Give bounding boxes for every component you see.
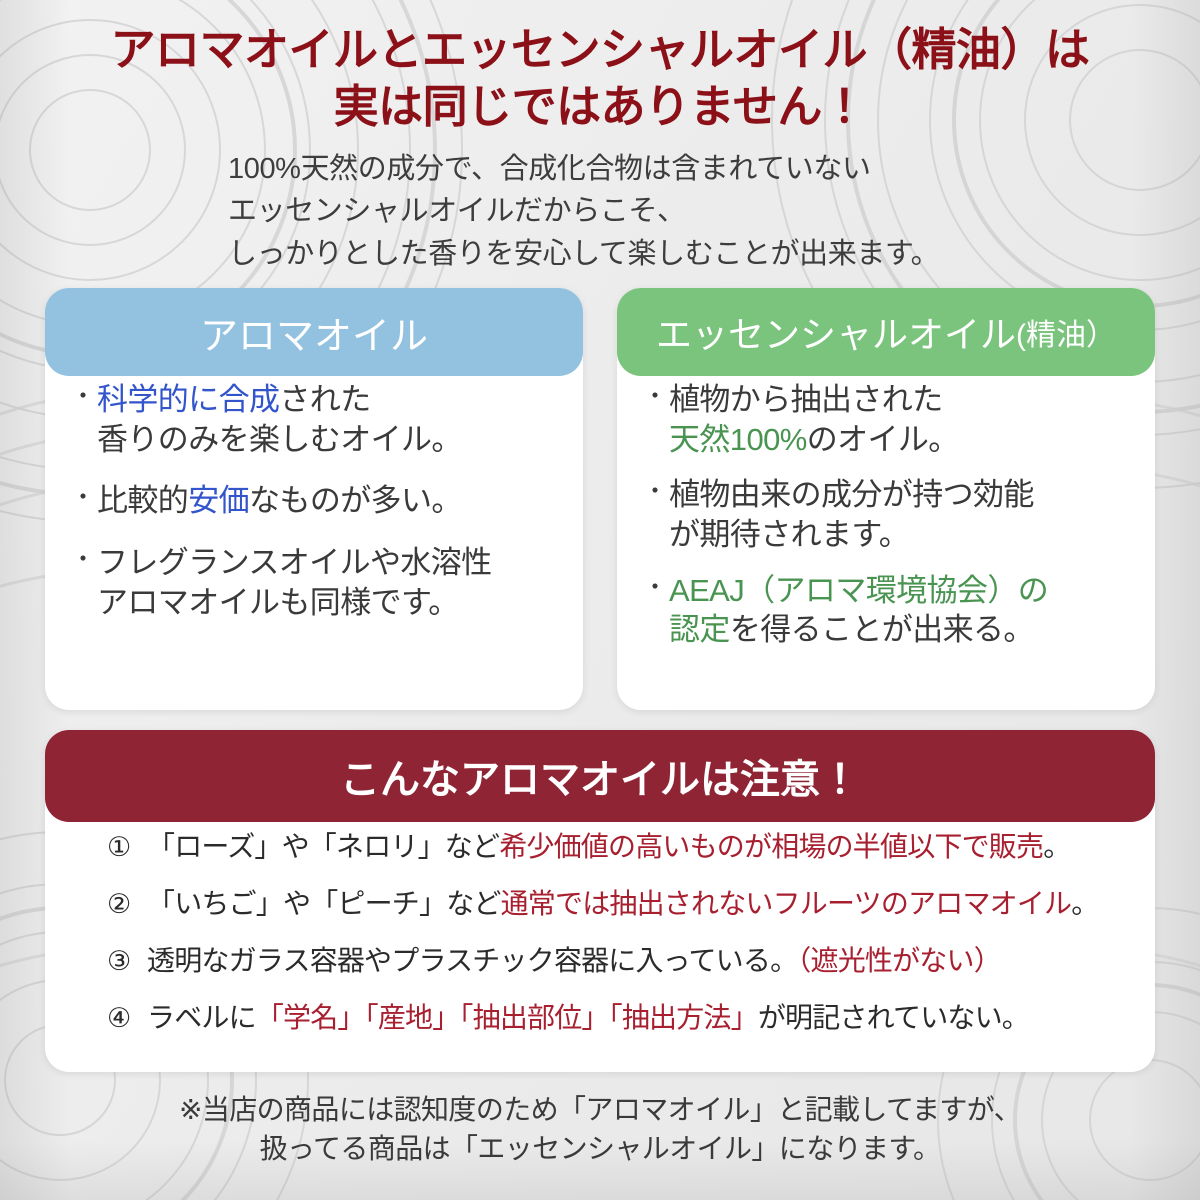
list-item-head: 「いちご」や「ピーチ」など xyxy=(147,888,501,919)
highlight-text: 天然100% xyxy=(669,422,807,457)
list-item-number: ② xyxy=(107,889,147,921)
card-header-essential-oil: エッセンシャルオイル(精油） xyxy=(617,288,1155,376)
bullet-dot-icon: ・ xyxy=(71,543,97,578)
card-header-aroma-oil: アロマオイル xyxy=(45,288,583,376)
highlight-text: 通常では抽出されないフルーツのアロマオイル xyxy=(501,888,1072,919)
list-item-text: 科学的に合成された 香りのみを楽しむオイル。 xyxy=(97,380,571,459)
list-item-number: ③ xyxy=(107,946,147,978)
list-item-tail: 。 xyxy=(1043,831,1070,862)
warning-banner-label: こんなアロマオイルは注意！ xyxy=(340,747,860,805)
infographic-page: アロマオイルとエッセンシャルオイル（精油）は 実は同じではありません！ 100%… xyxy=(0,0,1200,1200)
list-item: ③ 透明なガラス容器やプラスチック容器に入っている。（遮光性がない） xyxy=(107,944,1127,978)
bullet-dot-icon: ・ xyxy=(643,571,669,606)
list-item-text: フレグランスオイルや水溶性 アロマオイルも同様です。 xyxy=(97,543,571,622)
page-title: アロマオイルとエッセンシャルオイル（精油）は 実は同じではありません！ xyxy=(0,22,1200,135)
list-item-text: AEAJ（アロマ環境協会）の 認定を得ることが出来る。 xyxy=(669,571,1143,650)
list-item-text: 「いちご」や「ピーチ」など通常では抽出されないフルーツのアロマオイル。 xyxy=(147,887,1127,920)
list-item: ・ AEAJ（アロマ環境協会）の 認定を得ることが出来る。 xyxy=(643,571,1143,650)
card-header-label-essential: エッセンシャルオイル xyxy=(656,306,1016,358)
list-item-head: 「ローズ」や「ネロリ」など xyxy=(147,831,499,862)
list-item-text: 植物から抽出された 天然100%のオイル。 xyxy=(669,380,1143,459)
list-item-tail: 。 xyxy=(1071,888,1098,919)
list-item: ④ ラベルに「学名」「産地」「抽出部位」「抽出方法」が明記されていない。 xyxy=(107,1001,1127,1035)
highlight-text: 希少価値の高いものが相場の半値以下で販売 xyxy=(499,831,1043,862)
list-item-text: 「ローズ」や「ネロリ」など希少価値の高いものが相場の半値以下で販売。 xyxy=(147,830,1127,863)
list-item-head: 植物から抽出された xyxy=(669,382,943,417)
list-item: ① 「ローズ」や「ネロリ」など希少価値の高いものが相場の半値以下で販売。 xyxy=(107,830,1127,864)
card-warning: こんなアロマオイルは注意！ ① 「ローズ」や「ネロリ」など希少価値の高いものが相… xyxy=(45,730,1155,1072)
list-item-head: ラベルに xyxy=(147,1002,256,1033)
bullet-list-essential: ・ 植物から抽出された 天然100%のオイル。 ・ 植物由来の成分が持つ効能 が… xyxy=(617,380,1155,666)
list-item-number: ① xyxy=(107,832,147,864)
footnote: ※当店の商品には認知度のため「アロマオイル」と記載してますが、 扱ってる商品は「… xyxy=(0,1090,1200,1168)
bullet-list-aroma: ・ 科学的に合成された 香りのみを楽しむオイル。 ・ 比較的安価なものが多い。 … xyxy=(45,380,583,644)
highlight-text: 安価 xyxy=(188,483,249,518)
list-item-tail: を得ることが出来る。 xyxy=(730,612,1034,647)
card-aroma-oil: アロマオイル ・ 科学的に合成された 香りのみを楽しむオイル。 ・ 比較的安価な… xyxy=(45,288,583,710)
card-header-sublabel-essential: (精油） xyxy=(1016,310,1116,354)
list-item-text: 植物由来の成分が持つ効能 が期待されます。 xyxy=(669,475,1143,554)
list-item-head: 比較的 xyxy=(97,483,188,518)
list-item: ・ 植物から抽出された 天然100%のオイル。 xyxy=(643,380,1143,459)
bullet-dot-icon: ・ xyxy=(643,475,669,510)
list-item: ・ 植物由来の成分が持つ効能 が期待されます。 xyxy=(643,475,1143,554)
list-item-tail: なものが多い。 xyxy=(249,483,462,518)
lead-paragraph: 100%天然の成分で、合成化合物は含まれていない エッセンシャルオイルだからこそ… xyxy=(228,148,1048,275)
highlight-text: （遮光性がない） xyxy=(797,945,1001,976)
bullet-dot-icon: ・ xyxy=(71,380,97,415)
bullet-dot-icon: ・ xyxy=(71,481,97,516)
list-item-text: 比較的安価なものが多い。 xyxy=(97,481,571,521)
list-item: ② 「いちご」や「ピーチ」など通常では抽出されないフルーツのアロマオイル。 xyxy=(107,887,1127,921)
list-item: ・ フレグランスオイルや水溶性 アロマオイルも同様です。 xyxy=(71,543,571,622)
warning-banner: こんなアロマオイルは注意！ xyxy=(45,730,1155,822)
list-item-text: 透明なガラス容器やプラスチック容器に入っている。（遮光性がない） xyxy=(147,944,1127,977)
highlight-text: 「学名」「産地」「抽出部位」「抽出方法」 xyxy=(256,1002,758,1033)
list-item-tail: が明記されていない。 xyxy=(758,1002,1029,1033)
bullet-dot-icon: ・ xyxy=(643,380,669,415)
list-item-text: ラベルに「学名」「産地」「抽出部位」「抽出方法」が明記されていない。 xyxy=(147,1001,1127,1034)
card-header-label-aroma: アロマオイル xyxy=(200,305,428,360)
list-item: ・ 科学的に合成された 香りのみを楽しむオイル。 xyxy=(71,380,571,459)
list-item-head: 透明なガラス容器やプラスチック容器に入っている。 xyxy=(147,945,797,976)
list-item-tail: のオイル。 xyxy=(807,422,959,457)
list-item: ・ 比較的安価なものが多い。 xyxy=(71,481,571,521)
card-essential-oil: エッセンシャルオイル(精油） ・ 植物から抽出された 天然100%のオイル。 ・… xyxy=(617,288,1155,710)
warning-list: ① 「ローズ」や「ネロリ」など希少価値の高いものが相場の半値以下で販売。 ② 「… xyxy=(45,830,1155,1057)
list-item-number: ④ xyxy=(107,1003,147,1035)
highlight-text: 科学的に合成 xyxy=(97,382,279,417)
